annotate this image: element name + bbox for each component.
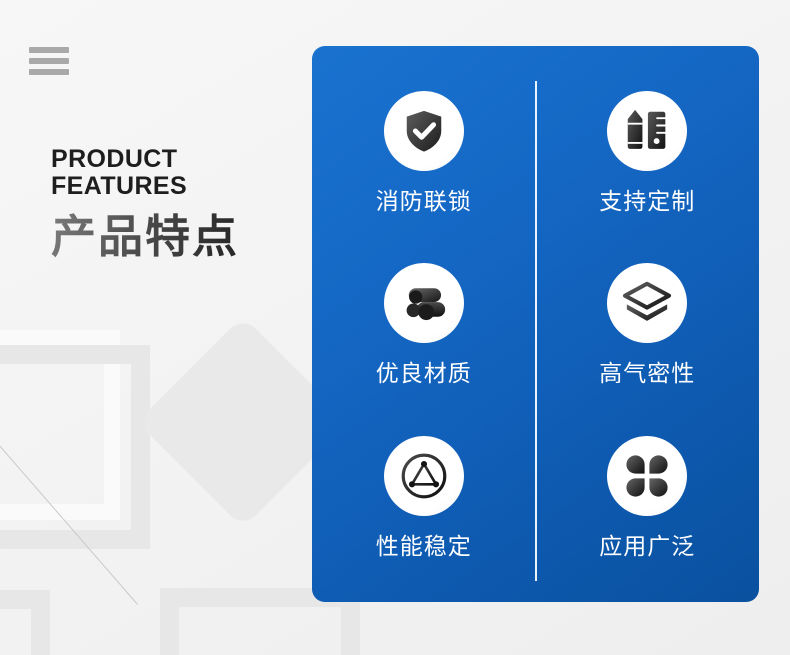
features-grid: 消防联锁 bbox=[312, 46, 759, 602]
feature-item-fire-interlock[interactable]: 消防联锁 bbox=[312, 66, 536, 239]
feature-label: 性能稳定 bbox=[376, 533, 472, 559]
feature-item-customization[interactable]: 支持定制 bbox=[536, 66, 760, 239]
feature-item-wide-application[interactable]: 应用广泛 bbox=[536, 411, 760, 584]
hamburger-menu-icon[interactable] bbox=[29, 47, 69, 75]
hamburger-bar-1 bbox=[29, 47, 69, 53]
product-features-page: PRODUCT FEATURES 产品特点 bbox=[0, 0, 790, 655]
decor-square-outline-left bbox=[0, 345, 150, 549]
features-panel: 消防联锁 bbox=[312, 46, 759, 602]
hamburger-bar-3 bbox=[29, 69, 69, 75]
feature-label: 消防联锁 bbox=[376, 188, 472, 214]
feature-item-material-quality[interactable]: 优良材质 bbox=[312, 239, 536, 412]
shield-check-icon bbox=[384, 91, 464, 171]
feature-item-airtightness[interactable]: 高气密性 bbox=[536, 239, 760, 412]
circle-triangle-network-icon bbox=[384, 436, 464, 516]
feature-label: 应用广泛 bbox=[599, 533, 695, 559]
pencil-ruler-icon bbox=[607, 91, 687, 171]
decor-diagonal-line bbox=[0, 415, 138, 605]
layers-icon bbox=[607, 263, 687, 343]
page-heading: PRODUCT FEATURES 产品特点 bbox=[51, 146, 301, 263]
page-title: 产品特点 bbox=[51, 211, 301, 263]
feature-label: 支持定制 bbox=[599, 188, 695, 214]
hamburger-bar-2 bbox=[29, 58, 69, 64]
four-petal-clover-icon bbox=[607, 436, 687, 516]
decor-square-white bbox=[0, 330, 120, 520]
stacked-pipes-icon bbox=[384, 263, 464, 343]
decor-square-outline-bottom-left bbox=[0, 590, 50, 655]
feature-item-stable-performance[interactable]: 性能稳定 bbox=[312, 411, 536, 584]
heading-eyebrow: PRODUCT FEATURES bbox=[51, 146, 301, 200]
feature-label: 高气密性 bbox=[599, 360, 695, 386]
feature-label: 优良材质 bbox=[376, 360, 472, 386]
